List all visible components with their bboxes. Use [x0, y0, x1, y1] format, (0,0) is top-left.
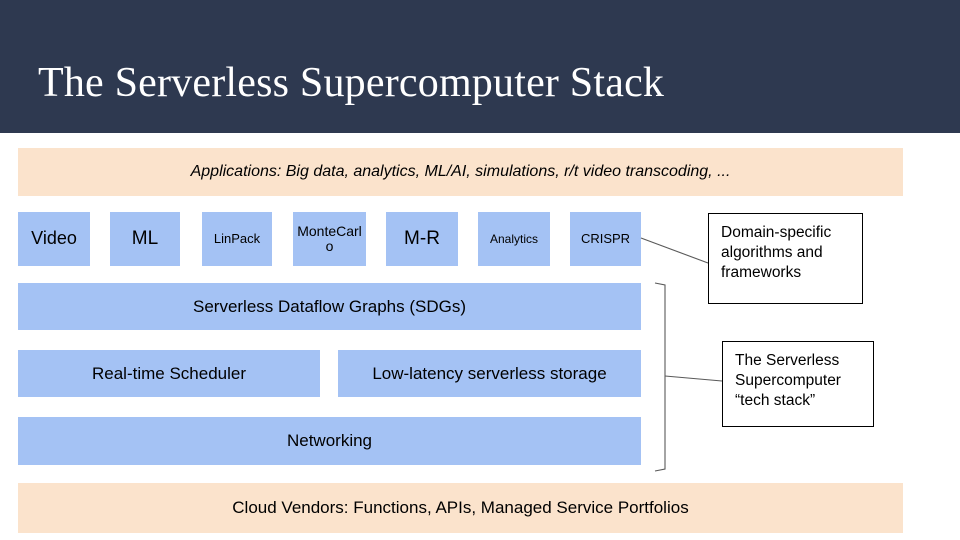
callout-tech-stack: The Serverless Supercomputer “tech stack…	[722, 341, 874, 427]
callout-domain-specific: Domain-specific algorithms and framework…	[708, 213, 863, 304]
algorithm-boxes-row: Video ML LinPack MonteCarlo M-R Analytic…	[0, 212, 700, 266]
cloud-vendors-band: Cloud Vendors: Functions, APIs, Managed …	[18, 483, 903, 533]
slide-canvas: The Serverless Supercomputer Stack Appli…	[0, 0, 960, 540]
stack-layer-scheduler[interactable]: Real-time Scheduler	[18, 350, 320, 397]
algo-box-crispr[interactable]: CRISPR	[570, 212, 641, 266]
algo-box-ml[interactable]: ML	[110, 212, 180, 266]
stack-layer-storage[interactable]: Low-latency serverless storage	[338, 350, 641, 397]
algo-box-video[interactable]: Video	[18, 212, 90, 266]
leader-line-stack	[665, 376, 722, 381]
stack-layer-networking[interactable]: Networking	[18, 417, 641, 465]
algo-box-montecarlo[interactable]: MonteCarlo	[293, 212, 366, 266]
algo-box-linpack[interactable]: LinPack	[202, 212, 272, 266]
algo-box-analytics[interactable]: Analytics	[478, 212, 550, 266]
stack-bracket	[655, 283, 665, 471]
page-title: The Serverless Supercomputer Stack	[38, 57, 664, 109]
algo-box-mapreduce[interactable]: M-R	[386, 212, 458, 266]
applications-band: Applications: Big data, analytics, ML/AI…	[18, 148, 903, 196]
stack-layer-sdg[interactable]: Serverless Dataflow Graphs (SDGs)	[18, 283, 641, 330]
